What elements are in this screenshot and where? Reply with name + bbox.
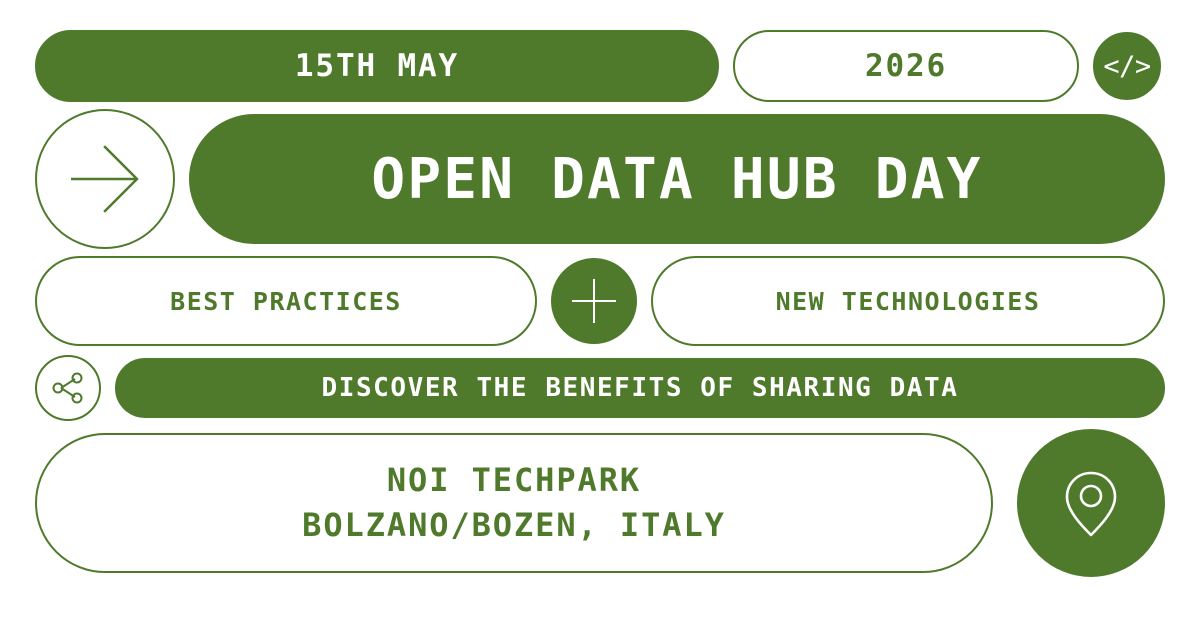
event-date-pill: 15TH MAY [35,30,719,102]
share-icon [47,367,89,409]
plus-icon [572,279,616,323]
tagline-row: DISCOVER THE BENEFITS OF SHARING DATA [35,358,1165,418]
share-badge [35,355,101,421]
event-poster: 15TH MAY 2026 </> OPEN DATA HUB DAY BEST… [0,0,1200,630]
event-year-pill: 2026 [733,30,1079,102]
arrow-right-icon [57,131,153,227]
location-badge [1017,429,1165,577]
venue-city: BOLZANO/BOZEN, ITALY [302,505,726,546]
topics-row: BEST PRACTICES NEW TECHNOLOGIES [35,256,1165,346]
venue-row: NOI TECHPARK BOLZANO/BOZEN, ITALY [35,430,1165,575]
date-row: 15TH MAY 2026 </> [35,30,1165,102]
arrow-right-badge [35,109,175,249]
location-pin-icon [1049,461,1133,545]
event-tagline: DISCOVER THE BENEFITS OF SHARING DATA [115,358,1165,418]
event-title: OPEN DATA HUB DAY [189,114,1165,244]
plus-badge [551,258,637,344]
title-row: OPEN DATA HUB DAY [35,114,1165,244]
code-icon-badge: </> [1093,32,1161,100]
topic-new-technologies: NEW TECHNOLOGIES [651,256,1165,346]
venue-box: NOI TECHPARK BOLZANO/BOZEN, ITALY [35,433,993,573]
venue-name: NOI TECHPARK [387,460,641,501]
topic-best-practices: BEST PRACTICES [35,256,537,346]
code-icon: </> [1103,53,1150,80]
